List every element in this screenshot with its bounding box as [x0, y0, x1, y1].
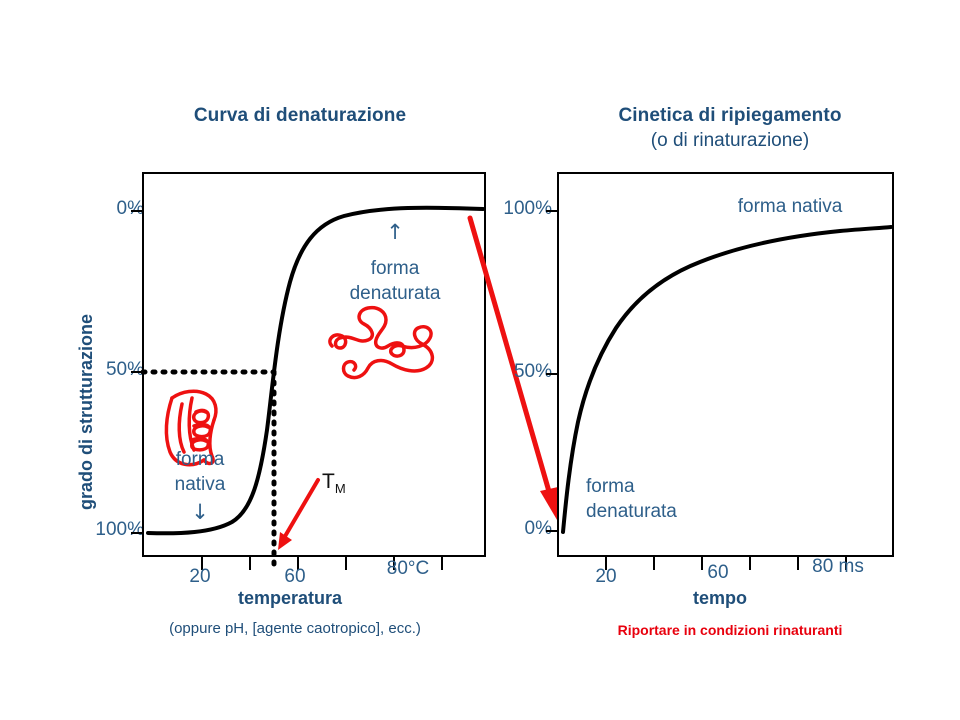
right-native-label: forma nativa: [700, 196, 880, 218]
right-denatured-label-line1: forma: [586, 476, 736, 498]
left-panel-title: Curva di denaturazione: [80, 105, 520, 127]
right-x-axis-note: Riportare in condizioni rinaturanti: [540, 622, 920, 638]
right-panel-title-line2: (o di rinaturazione): [540, 130, 920, 152]
right-denatured-label-line2: denaturata: [586, 501, 746, 523]
right-x-tick-60: 60: [688, 562, 748, 584]
tm-label: TM: [322, 470, 346, 496]
tm-label-sub: M: [335, 481, 346, 496]
left-native-label-line2: nativa: [150, 474, 250, 496]
slide-canvas: Curva di denaturazione Cinetica di ripie…: [0, 0, 960, 720]
left-x-axis-subtitle: (oppure pH, [agente caotropico], ecc.): [130, 620, 460, 637]
right-x-tick-20: 20: [576, 566, 636, 588]
native-down-arrow-icon: ↓: [150, 502, 250, 523]
right-x-axis-title: tempo: [640, 588, 800, 609]
left-y-axis-title: grado di strutturazione: [76, 314, 97, 510]
right-panel-title-line1: Cinetica di ripiegamento: [540, 105, 920, 127]
tm-label-main: T: [322, 470, 335, 493]
left-native-label-line1: forma: [150, 449, 250, 471]
denatured-up-arrow-icon: ↑: [355, 222, 435, 243]
left-x-axis-title: temperatura: [180, 588, 400, 609]
left-x-tick-20: 20: [170, 566, 230, 588]
right-x-tick-80: 80 ms: [790, 556, 886, 578]
left-x-tick-60: 60: [265, 566, 325, 588]
left-x-tick-80: 80°C: [368, 558, 448, 580]
